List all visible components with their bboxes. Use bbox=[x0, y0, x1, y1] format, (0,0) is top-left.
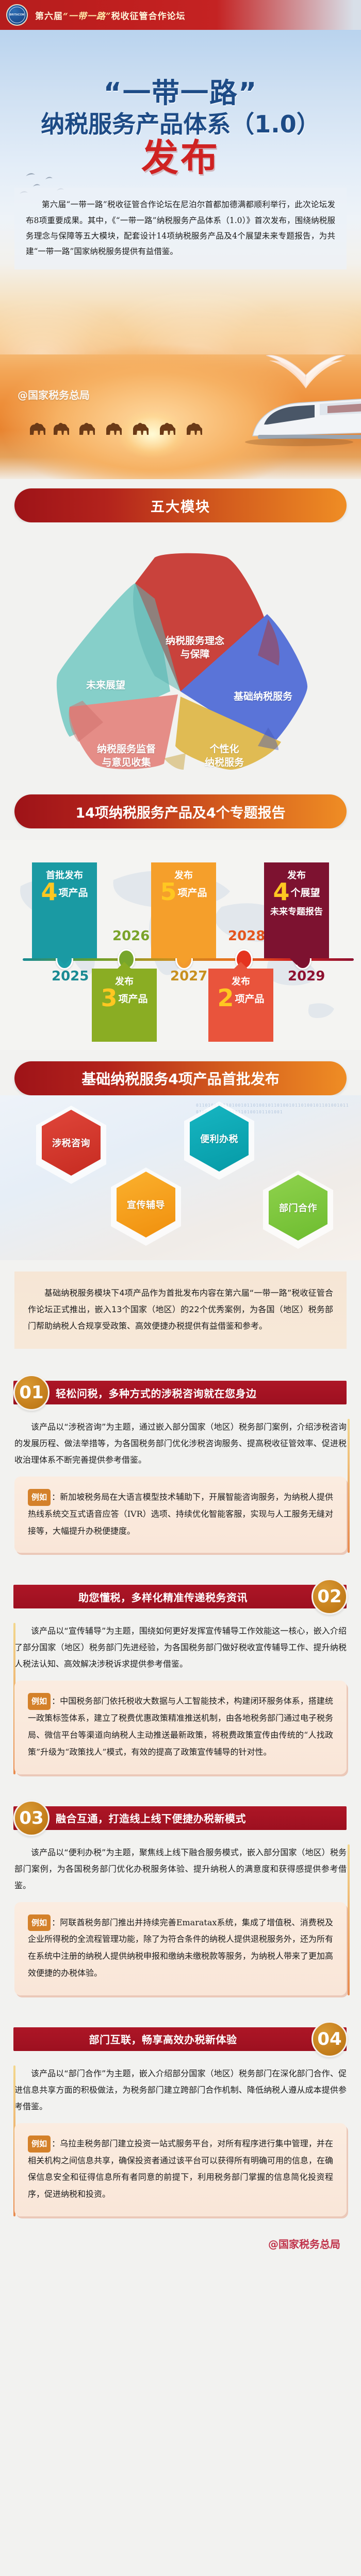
hero-stamp-text: 发布 bbox=[141, 139, 220, 176]
timeline-year-2027: 2027 bbox=[170, 969, 207, 984]
example-text-03: ：阿联酋税务部门推出并持续完善Emaratax系统，集成了增值税、消费税及企业所… bbox=[28, 1918, 333, 1978]
hero-watermark: @国家税务总局 bbox=[18, 387, 90, 402]
timeline-year-2029: 2029 bbox=[288, 969, 325, 984]
timeline-card-2025: 首批发布 4项产品 bbox=[32, 862, 97, 958]
hero-section: “一带一路” 纳税服务产品体系（1.0） 发布 第六届“一带一路”税收征管合作论… bbox=[0, 30, 361, 479]
hex-label-publicity-guidance: 宣传辅导 bbox=[127, 1198, 165, 1211]
example-tag-04: 例如 bbox=[28, 2136, 51, 2153]
header-title-prefix: 第六届 bbox=[35, 11, 63, 22]
section-03-example: 例如：阿联酋税务部门推出并持续完善Emaratax系统，集成了增值税、消费税及企… bbox=[14, 1902, 347, 1995]
header-title: 第六届“一带一路”税收征管合作论坛 bbox=[35, 9, 186, 22]
section-02: 助您懂税，多样化精准传递税务资讯 02 该产品以“宣传辅导”为主题，围绕如何更好… bbox=[0, 1555, 361, 1776]
open-book-icon bbox=[262, 339, 350, 396]
banner-five-modules: 五大模块 bbox=[14, 488, 347, 522]
hex-label-convenient-tax: 便利办税 bbox=[200, 1132, 238, 1145]
timeline-year-2028: 2028 bbox=[228, 928, 265, 944]
section-03-rail bbox=[348, 1844, 350, 1995]
section-02-title: 助您懂税，多样化精准传递税务资讯 bbox=[21, 1585, 305, 1608]
banner-fourteen-products: 14项纳税服务产品及4个专题报告 bbox=[14, 794, 347, 828]
timeline-card-2027: 发布 5项产品 bbox=[151, 862, 216, 958]
example-text-01: ：新加坡税务局在大语言模型技术辅助下，开展智能咨询服务，为纳税人提供热线系统交互… bbox=[28, 1492, 333, 1536]
section-04: 部门互联，畅享高效办税新体验 04 该产品以“部门合作”为主题，嵌入介绍部分国家… bbox=[0, 1997, 361, 2218]
header-title-suffix: 税收征管合作论坛 bbox=[111, 11, 186, 22]
timeline-year-2026: 2026 bbox=[112, 928, 150, 944]
section-02-heading: 助您懂税，多样化精准传递税务资讯 02 bbox=[0, 1578, 361, 1614]
pentagon-stage: 纳税服务理念与保障 基础纳税服务 个性化纳税服务 纳税服务监督与意见收集 未来展… bbox=[0, 537, 361, 779]
section-04-number: 04 bbox=[311, 2021, 348, 2057]
five-modules-block: 五大模块 bbox=[0, 479, 361, 785]
five-modules-diagram: 纳税服务理念与保障 基础纳税服务 个性化纳税服务 纳税服务监督与意见收集 未来展… bbox=[0, 522, 361, 783]
example-tag-02: 例如 bbox=[28, 1693, 51, 1710]
section-04-heading: 部门互联，畅享高效办税新体验 04 bbox=[0, 2020, 361, 2056]
pentagon-chart bbox=[0, 537, 361, 779]
section-01: 轻松问税，多种方式的涉税咨询就在您身边 01 该产品以“涉税咨询”为主题，通过嵌… bbox=[0, 1351, 361, 1555]
hex-label-tax-consultation: 涉税咨询 bbox=[52, 1136, 90, 1149]
basic-four-block: 基础纳税服务4项产品首批发布 0110100101101001011010010… bbox=[0, 1052, 361, 1351]
section-01-rail bbox=[348, 1419, 350, 1553]
section-02-body: 该产品以“宣传辅导”为主题，围绕如何更好发挥宣传辅导工作效能这一核心，嵌入介绍了… bbox=[14, 1623, 347, 1672]
britacom-logo-label: BRITACOM bbox=[10, 13, 25, 16]
timeline-card-2026: 发布 3项产品 bbox=[92, 969, 157, 1042]
section-02-example: 例如：中国税务部门依托税收大数据与人工智能技术，构建闭环服务体系，搭建统一政策标… bbox=[14, 1681, 347, 1774]
section-03: 融合互通，打造线上线下便捷办税新模式 03 该产品以“便利办税”为主题，聚焦线上… bbox=[0, 1776, 361, 1997]
section-04-body: 该产品以“部门合作”为主题，嵌入介绍部分国家（地区）税务部门在深化部门合作、促进… bbox=[14, 2065, 347, 2115]
footer-watermark: @国家税务总局 bbox=[0, 2218, 361, 2272]
camel-caravan-icon bbox=[26, 411, 222, 442]
forum-header: BRITACOM 第六届“一带一路”税收征管合作论坛 bbox=[0, 0, 361, 30]
section-01-body: 该产品以“涉税咨询”为主题，通过嵌入部分国家（地区）税务部门案例，介绍涉税咨询的… bbox=[14, 1419, 347, 1468]
section-01-title: 轻松问税，多种方式的涉税咨询就在您身边 bbox=[56, 1381, 340, 1404]
hero-title-line1: “一带一路” bbox=[0, 79, 361, 108]
hero-title-line2: 纳税服务产品体系（1.0） bbox=[0, 111, 361, 138]
products-timeline-block: 14项纳税服务产品及4个专题报告 bbox=[0, 785, 361, 1052]
timeline-card-2029: 发布 4个展望 未来专题报告 bbox=[264, 862, 329, 958]
banner-basic-four-products: 基础纳税服务4项产品首批发布 bbox=[14, 1061, 347, 1095]
section-01-heading: 轻松问税，多种方式的涉税咨询就在您身边 01 bbox=[0, 1374, 361, 1410]
britacom-logo-icon: BRITACOM bbox=[6, 4, 28, 26]
section-02-number: 02 bbox=[311, 1579, 348, 1615]
intro-paragraph: 基础纳税服务模块下4项产品作为首批发布内容在第六届“一带一路”税收征管合作论坛正… bbox=[14, 1272, 347, 1349]
section-03-title: 融合互通，打造线上线下便捷办税新模式 bbox=[56, 1806, 340, 1830]
section-04-example: 例如：乌拉圭税务部门建立投资一站式服务平台，对所有程序进行集中管理，并在相关机构… bbox=[14, 2123, 347, 2216]
example-text-04: ：乌拉圭税务部门建立投资一站式服务平台，对所有程序进行集中管理，并在相关机构之间… bbox=[28, 2139, 333, 2199]
section-03-number: 03 bbox=[13, 1800, 50, 1836]
timeline-card-2028: 发布 2项产品 bbox=[208, 969, 273, 1042]
example-tag-01: 例如 bbox=[28, 1489, 51, 1506]
header-title-quoted: “一带一路” bbox=[63, 11, 111, 22]
hex-label-department-cooperation: 部门合作 bbox=[279, 1201, 317, 1214]
example-text-02: ：中国税务部门依托税收大数据与人工智能技术，构建闭环服务体系，搭建统一政策标签体… bbox=[28, 1696, 333, 1756]
section-01-example: 例如：新加坡税务局在大语言模型技术辅助下，开展智能咨询服务，为纳税人提供热线系统… bbox=[14, 1477, 347, 1553]
hero-paragraph: 第六届“一带一路”税收征管合作论坛在尼泊尔首都加德满都顺利举行，此次论坛发布8项… bbox=[14, 188, 347, 269]
infographic-page: BRITACOM 第六届“一带一路”税收征管合作论坛 “一带一路” 纳税服务产品… bbox=[0, 0, 361, 2272]
hero-stamp: 发布 bbox=[0, 139, 361, 176]
section-04-title: 部门互联，畅享高效办税新体验 bbox=[21, 2027, 305, 2051]
section-03-heading: 融合互通，打造线上线下便捷办税新模式 03 bbox=[0, 1799, 361, 1835]
release-timeline: 2025 2026 2027 2028 2029 首批发布 4项产品 发布 5项… bbox=[0, 840, 361, 1050]
section-01-number: 01 bbox=[13, 1375, 50, 1411]
high-speed-train-icon bbox=[237, 391, 361, 447]
timeline-year-2025: 2025 bbox=[52, 969, 89, 984]
hex-products-diagram: 0110100101101001011010010110100101101001… bbox=[0, 1095, 361, 1260]
section-03-body: 该产品以“便利办税”为主题，聚焦线上线下融合服务模式，嵌入部分国家（地区）税务部… bbox=[14, 1844, 347, 1894]
example-tag-03: 例如 bbox=[28, 1914, 51, 1931]
hero-title: “一带一路” 纳税服务产品体系（1.0） bbox=[0, 30, 361, 137]
